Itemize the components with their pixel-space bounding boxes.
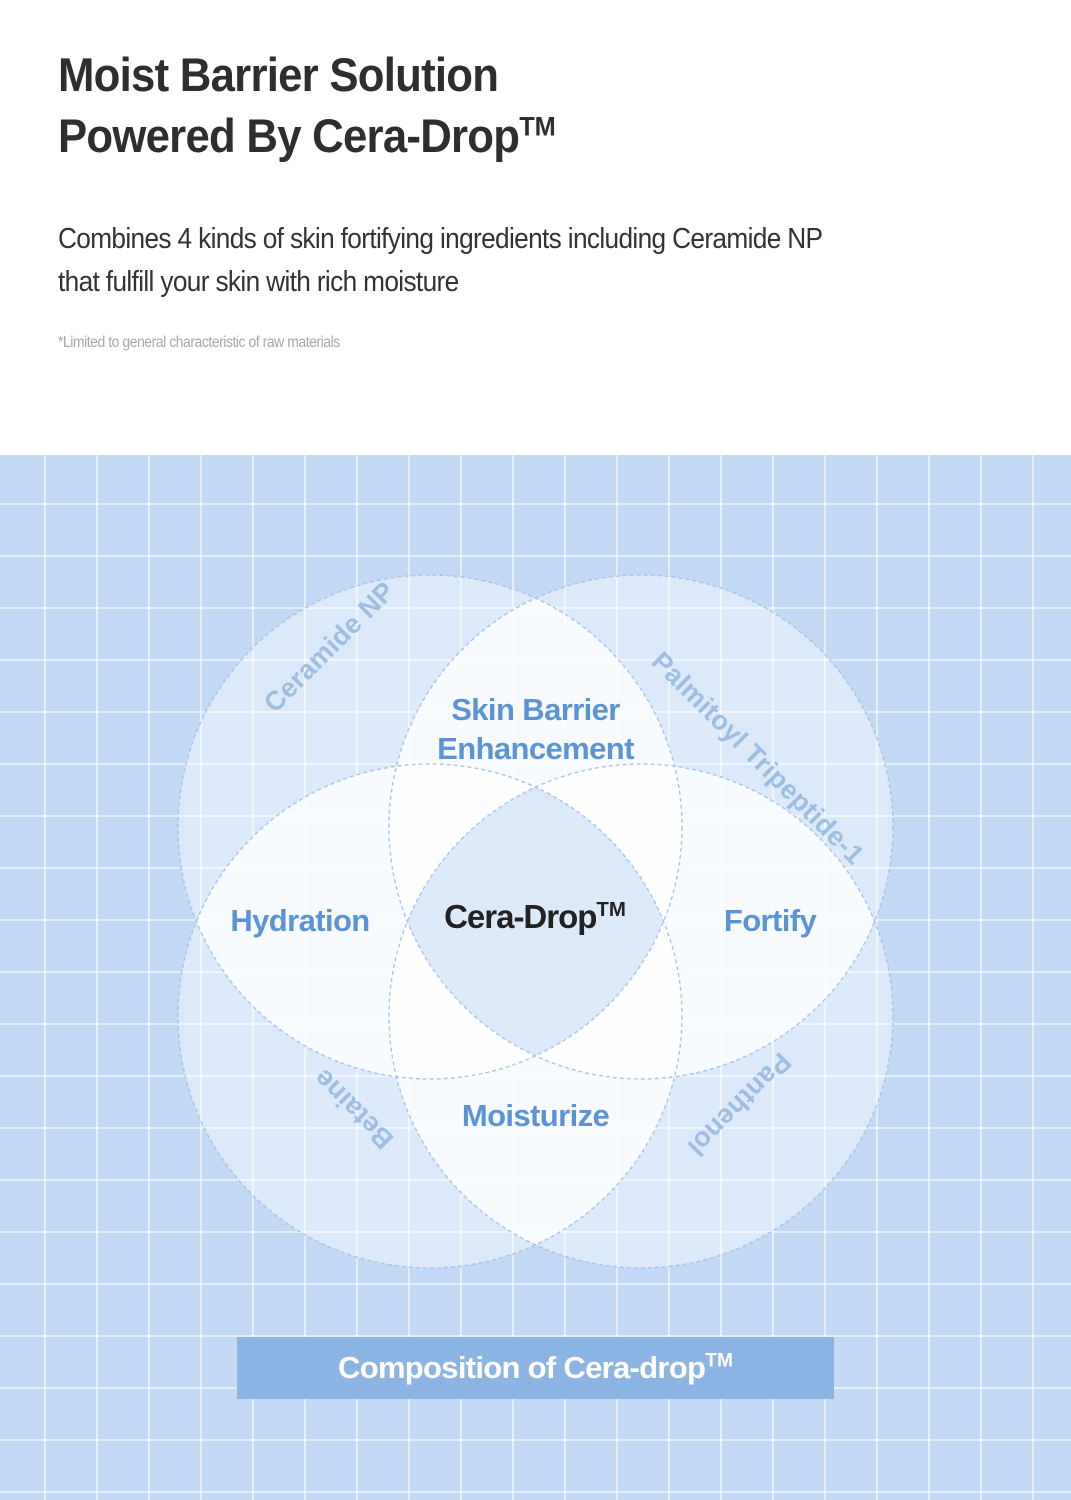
page-subtitle-line2: that fulfill your skin with rich moistur… bbox=[58, 266, 459, 298]
benefit-label-line2: Enhancement bbox=[437, 731, 634, 766]
trademark-symbol: TM bbox=[596, 898, 626, 921]
trademark-symbol: TM bbox=[519, 110, 556, 141]
trademark-symbol: TM bbox=[705, 1351, 733, 1372]
benefit-label-moisturize: Moisturize bbox=[0, 1096, 1071, 1135]
header-section: Moist Barrier Solution Powered By Cera-D… bbox=[0, 0, 1071, 455]
composition-banner-label: Composition of Cera-dropTM bbox=[338, 1350, 733, 1386]
page-subtitle-line1: Combines 4 kinds of skin fortifying ingr… bbox=[58, 223, 822, 255]
benefit-label-line1: Skin Barrier bbox=[451, 692, 620, 727]
page-footnote: *Limited to general characteristic of ra… bbox=[58, 304, 918, 354]
composition-banner: Composition of Cera-dropTM bbox=[237, 1337, 834, 1399]
page-title-line1: Moist Barrier Solution bbox=[58, 48, 498, 101]
composition-banner-text: Composition of Cera-drop bbox=[338, 1350, 705, 1385]
benefit-label-skin-barrier-enhancement: Skin Barrier Enhancement bbox=[0, 690, 1071, 769]
benefit-label-hydration: Hydration bbox=[183, 903, 417, 939]
page-title: Moist Barrier Solution Powered By Cera-D… bbox=[58, 44, 946, 166]
center-brand-name: Cera-Drop bbox=[444, 898, 596, 935]
product-detail-page: Moist Barrier Solution Powered By Cera-D… bbox=[0, 0, 1071, 1500]
benefit-label-fortify: Fortify bbox=[653, 903, 887, 939]
page-subtitle: Combines 4 kinds of skin fortifying ingr… bbox=[58, 166, 937, 304]
page-title-line2: Powered By Cera-Drop bbox=[58, 109, 519, 162]
center-brand-label: Cera-DropTM bbox=[417, 898, 653, 936]
